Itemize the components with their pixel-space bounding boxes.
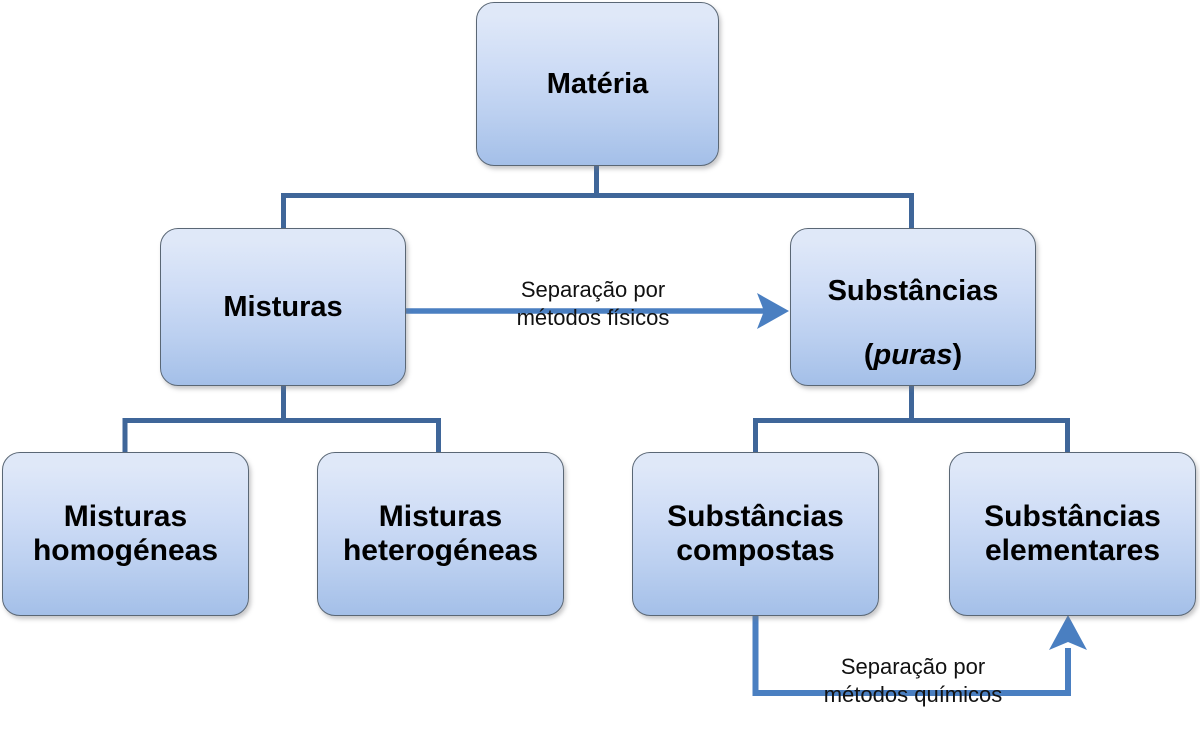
connector-substancias-children (753, 386, 1070, 453)
node-misturas-homogeneas-label: Misturas homogéneas (27, 500, 224, 567)
node-misturas-heterogeneas-label: Misturas heterogéneas (337, 500, 544, 567)
node-substancias-elementares[interactable]: Substâncias elementares (949, 452, 1196, 616)
node-misturas-heterogeneas[interactable]: Misturas heterogéneas (317, 452, 564, 616)
arrow-chemical-head (1049, 615, 1087, 650)
node-materia-label: Matéria (541, 68, 655, 100)
node-substancias-puras[interactable]: Substâncias (puras) (790, 228, 1036, 386)
node-misturas-homogeneas[interactable]: Misturas homogéneas (2, 452, 249, 616)
node-substancias-puras-italic: puras (874, 339, 953, 371)
connector-materia-children (281, 166, 912, 228)
node-substancias-paren-open: ( (864, 339, 874, 371)
node-materia[interactable]: Matéria (476, 2, 719, 166)
node-substancias-compostas-label: Substâncias compostas (661, 500, 850, 567)
connector-misturas-children (123, 386, 442, 453)
node-substancias-puras-label: Substâncias (puras) (822, 242, 1005, 372)
node-substancias-paren-close: ) (952, 339, 962, 371)
node-misturas-label: Misturas (217, 291, 348, 323)
node-misturas[interactable]: Misturas (160, 228, 406, 386)
node-substancias-line1: Substâncias (828, 275, 999, 307)
node-substancias-elementares-label: Substâncias elementares (978, 500, 1167, 567)
edge-label-metodos-quimicos: Separação por métodos químicos (789, 653, 1037, 709)
diagram-canvas: Matéria Misturas Substâncias (puras) Mis… (0, 0, 1200, 732)
edge-label-metodos-fisicos: Separação por métodos físicos (477, 276, 709, 332)
arrow-physical-head (757, 293, 789, 329)
node-substancias-compostas[interactable]: Substâncias compostas (632, 452, 879, 616)
